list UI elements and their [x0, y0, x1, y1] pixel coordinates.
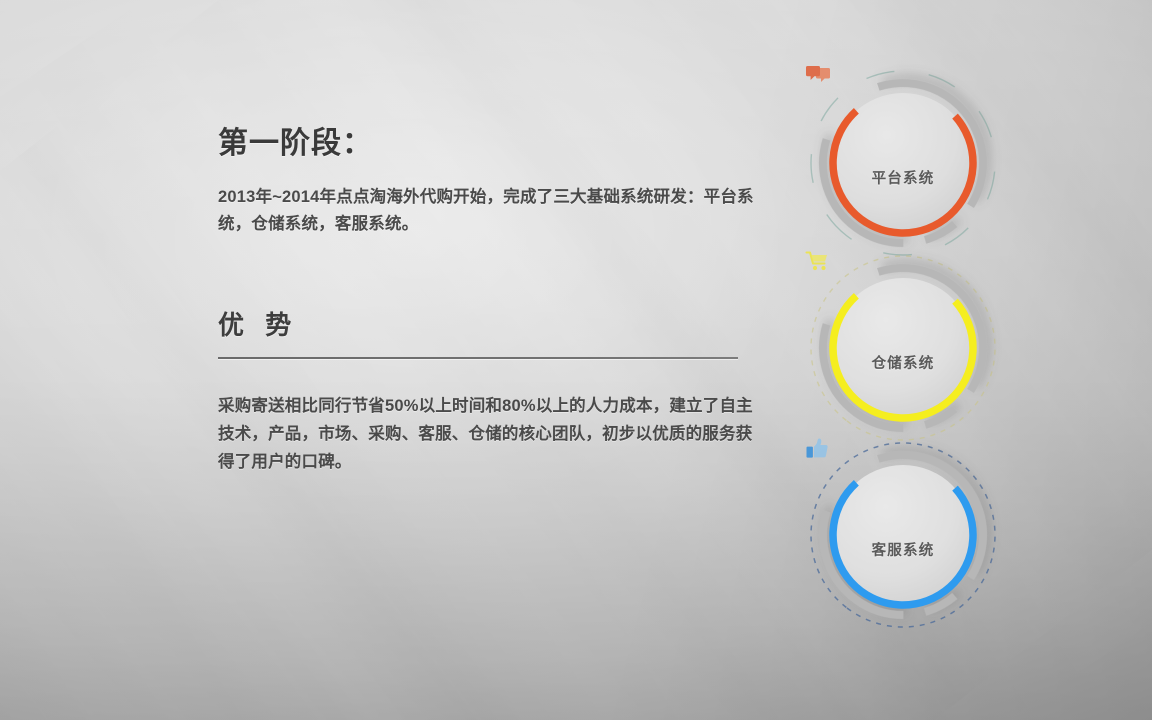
advantage-divider — [218, 357, 738, 359]
stage-title: 第一阶段： — [218, 126, 758, 162]
advantage-block: 优 势 采购寄送相比同行节省50%以上时间和80%以上的人力成本，建立了自主技术… — [218, 310, 758, 476]
badge-platform-system[interactable]: 平台系统 — [806, 66, 1000, 260]
advantage-description: 采购寄送相比同行节省50%以上时间和80%以上的人力成本，建立了自主技术，产品，… — [218, 392, 758, 477]
badge-column: 平台系统 — [806, 66, 1006, 656]
text-column: 第一阶段： 2013年~2014年点点淘海外代购开始，完成了三大基础系统研发：平… — [218, 126, 758, 477]
badge-warehouse-system[interactable]: 仓储系统 — [806, 251, 1000, 445]
slide-canvas: 第一阶段： 2013年~2014年点点淘海外代购开始，完成了三大基础系统研发：平… — [0, 0, 1152, 720]
badge-customer-service-system[interactable]: 客服系统 — [806, 438, 1000, 632]
stage-description: 2013年~2014年点点淘海外代购开始，完成了三大基础系统研发：平台系统，仓储… — [218, 184, 758, 237]
advantage-title: 优 势 — [218, 310, 758, 341]
